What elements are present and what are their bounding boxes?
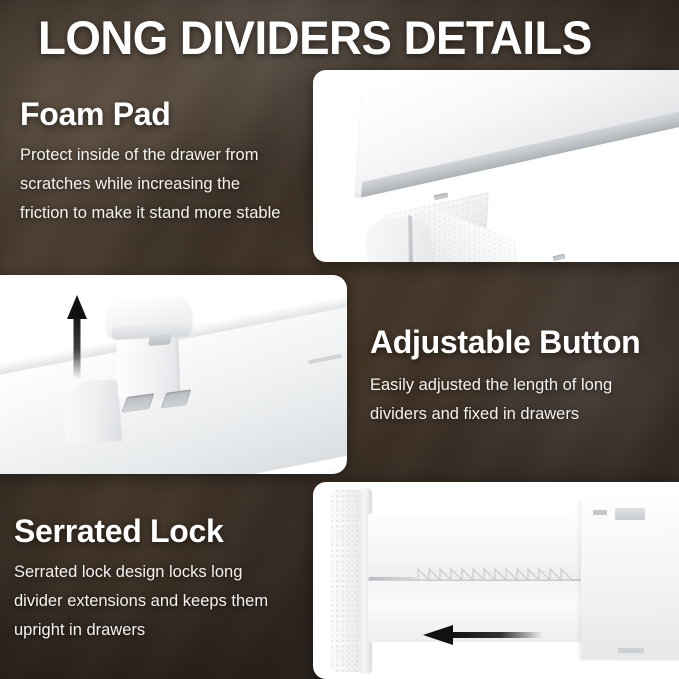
body-line: dividers and fixed in drawers: [370, 400, 670, 429]
section-serrated-lock: Serrated Lock Serrated lock design locks…: [14, 513, 314, 645]
body-line: friction to make it stand more stable: [20, 199, 310, 228]
serrated-teeth-icon: [407, 566, 585, 584]
divider-slot-lower: [553, 254, 566, 262]
photo-panel-foam-pad: [313, 70, 679, 262]
foam-pad-illustration: [313, 70, 679, 262]
up-arrow-icon: [67, 295, 87, 379]
body-line: divider extensions and keeps them: [14, 587, 314, 616]
section-heading-adjustable-button: Adjustable Button: [370, 324, 670, 360]
lock-slider-mark: [593, 510, 607, 515]
section-body-serrated-lock: Serrated lock design locks long divider …: [14, 558, 314, 645]
section-foam-pad: Foam Pad Protect inside of the drawer fr…: [20, 96, 310, 228]
body-line: Serrated lock design locks long: [14, 558, 314, 587]
photo-panel-adjustable-button: [0, 275, 347, 474]
lock-slider-tab: [615, 508, 645, 520]
section-adjustable-button: Adjustable Button Easily adjusted the le…: [370, 324, 670, 429]
body-line: Easily adjusted the length of long: [370, 371, 670, 400]
left-arrow-icon: [423, 625, 543, 645]
lock-slider-foot: [618, 648, 644, 653]
body-line: Protect inside of the drawer from: [20, 141, 310, 170]
photo-panel-serrated-lock: [313, 482, 679, 679]
product-infographic: LONG DIVIDERS DETAILS Foam Pad Protect i…: [0, 0, 679, 679]
serrated-lock-illustration: [313, 482, 679, 679]
section-heading-serrated-lock: Serrated Lock: [14, 513, 314, 549]
body-line: upright in drawers: [14, 616, 314, 645]
section-heading-foam-pad: Foam Pad: [20, 96, 310, 132]
page-title: LONG DIVIDERS DETAILS: [38, 12, 639, 64]
adjust-button-notch: [148, 334, 172, 346]
divider-rail-collar: [62, 379, 122, 445]
lock-sliding-panel: [581, 500, 679, 660]
divider-slot-upper: [434, 192, 449, 200]
body-line: scratches while increasing the: [20, 170, 310, 199]
adjustable-button-illustration: [0, 275, 347, 474]
section-body-adjustable-button: Easily adjusted the length of long divid…: [370, 371, 670, 429]
section-body-foam-pad: Protect inside of the drawer from scratc…: [20, 141, 310, 228]
